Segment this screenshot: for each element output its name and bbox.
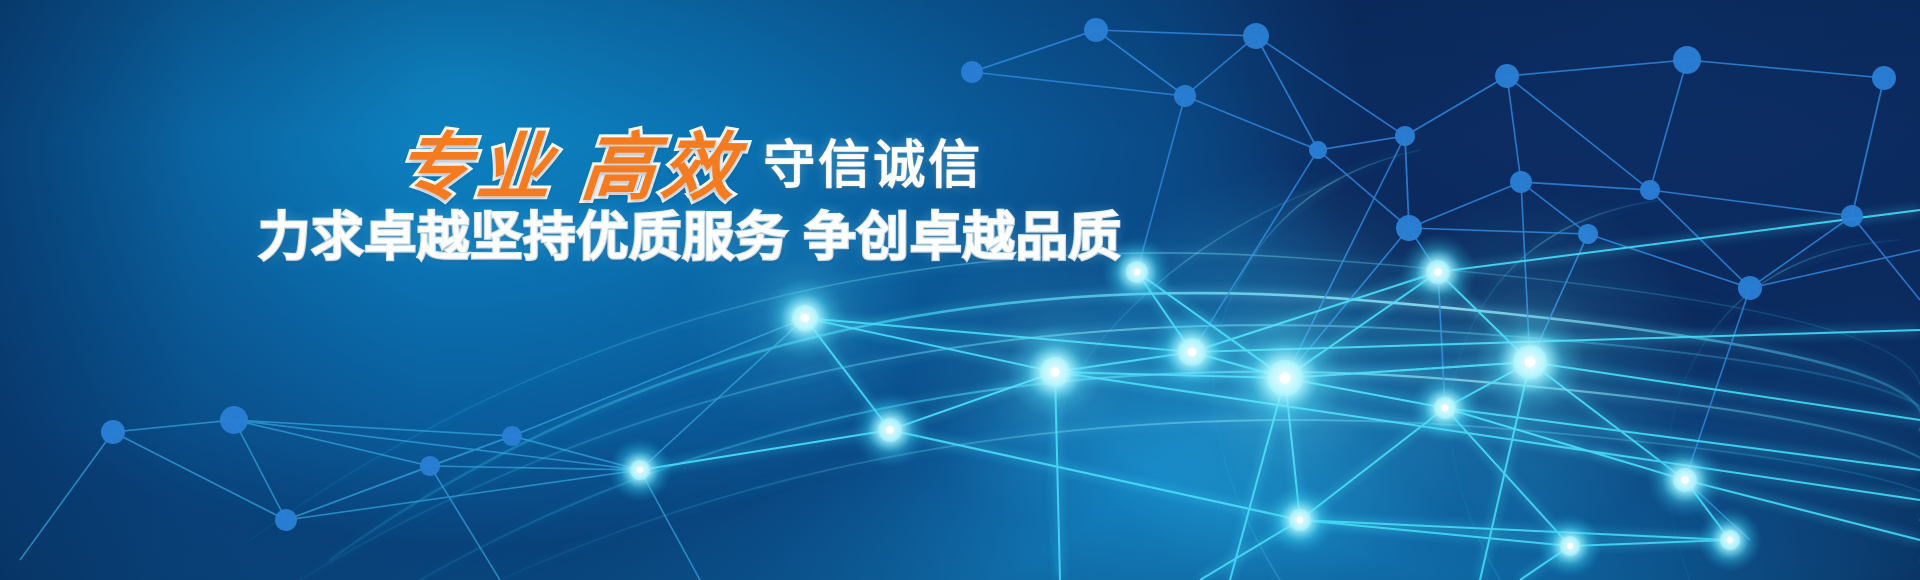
network-node — [1084, 18, 1108, 42]
network-node — [961, 61, 983, 83]
network-node — [1174, 85, 1196, 107]
banner-text-block: 专业 高效守信诚信 力求卓越坚持优质服务 争创卓越品质 — [0, 132, 1380, 264]
network-node-mesh — [0, 0, 1920, 580]
network-node — [1296, 516, 1303, 523]
network-node — [801, 314, 809, 322]
network-node — [1133, 268, 1140, 275]
network-node — [1396, 215, 1422, 241]
network-node — [1681, 476, 1689, 484]
network-node — [1434, 268, 1442, 276]
network-node — [630, 460, 650, 480]
network-node — [1510, 171, 1532, 193]
network-node — [1050, 367, 1060, 377]
network-node — [1841, 205, 1863, 227]
hero-banner: 专业 高效守信诚信 力求卓越坚持优质服务 争创卓越品质 — [0, 0, 1920, 580]
network-node — [792, 305, 818, 331]
network-node — [763, 276, 846, 359]
network-node — [1410, 373, 1480, 443]
network-node — [886, 426, 894, 434]
network-node — [1673, 46, 1701, 74]
globe-arc-mesh — [0, 0, 1920, 580]
network-node — [1872, 66, 1896, 90]
network-node — [275, 509, 297, 531]
network-node — [1395, 126, 1415, 146]
network-node — [1227, 320, 1342, 435]
network-node — [1476, 308, 1585, 417]
network-node — [220, 406, 248, 434]
network-node — [1560, 536, 1580, 556]
network-node — [1673, 468, 1697, 492]
headline-emphasis: 专业 高效 — [393, 132, 744, 206]
network-node — [852, 392, 929, 469]
network-node — [1513, 345, 1547, 379]
network-node — [1434, 397, 1456, 419]
subline-text: 力求卓越坚持优质服务 争创卓越品质 — [258, 212, 1121, 264]
background-vignette-left — [0, 0, 1920, 580]
network-node — [1538, 514, 1602, 578]
network-node — [1738, 276, 1762, 300]
network-node — [1007, 324, 1103, 420]
subline-row: 力求卓越坚持优质服务 争创卓越品质 — [0, 212, 1380, 264]
network-node — [637, 467, 643, 473]
network-node — [878, 418, 902, 442]
network-node — [1267, 360, 1303, 396]
network-node — [1727, 537, 1733, 543]
network-node — [1647, 442, 1724, 519]
network-node — [1578, 224, 1598, 244]
network-node — [1178, 338, 1206, 366]
network-node — [1720, 530, 1740, 550]
network-node — [1441, 404, 1448, 411]
network-node — [1698, 508, 1762, 572]
network-node — [1147, 307, 1237, 397]
network-node — [1400, 234, 1477, 311]
headline-row: 专业 高效守信诚信 — [0, 132, 1380, 206]
network-node — [101, 420, 125, 444]
network-node — [1040, 357, 1070, 387]
network-node — [1126, 261, 1148, 283]
network-node — [608, 438, 672, 502]
network-node — [1495, 64, 1519, 88]
network-node — [1525, 357, 1536, 368]
network-node — [1289, 509, 1311, 531]
background-vignette-edges — [0, 0, 1920, 580]
background-gradient — [0, 0, 1920, 580]
network-node — [420, 456, 440, 476]
network-node — [1243, 23, 1269, 49]
network-node — [1640, 180, 1660, 200]
network-node — [1188, 348, 1197, 357]
headline-secondary: 守信诚信 — [763, 140, 983, 192]
network-node — [502, 426, 522, 446]
background-bloom — [0, 0, 1920, 580]
network-node — [1567, 543, 1573, 549]
network-node — [1279, 372, 1291, 384]
network-node — [1426, 260, 1450, 284]
network-node — [1265, 485, 1335, 555]
